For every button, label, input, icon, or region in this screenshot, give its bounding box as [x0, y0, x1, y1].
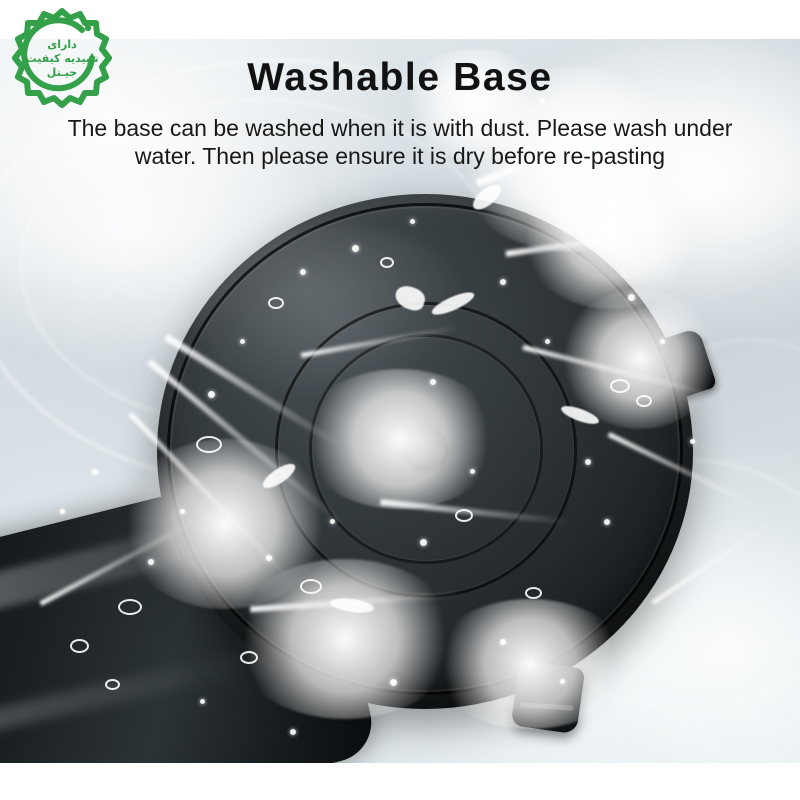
quality-approval-seal-icon: دارای تاییدیه کیفیت جیـتل [9, 8, 115, 116]
seal-text: دارای تاییدیه کیفیت جیـتل [9, 38, 115, 80]
seal-line-1: دارای [9, 38, 115, 52]
release-tab-icon [511, 660, 586, 735]
center-hub-icon [404, 429, 448, 469]
seal-line-2: تاییدیه کیفیت [9, 52, 115, 66]
subtitle-line-1: The base can be washed when it is with d… [10, 114, 790, 142]
page-subtitle: The base can be washed when it is with d… [0, 114, 800, 170]
product-feature-card: Washable Base The base can be washed whe… [0, 0, 800, 800]
subtitle-line-2: water. Then please ensure it is dry befo… [10, 142, 790, 170]
seal-line-3: جیـتل [9, 66, 115, 80]
circular-base-icon [157, 194, 693, 709]
page-title: Washable Base [0, 58, 800, 98]
